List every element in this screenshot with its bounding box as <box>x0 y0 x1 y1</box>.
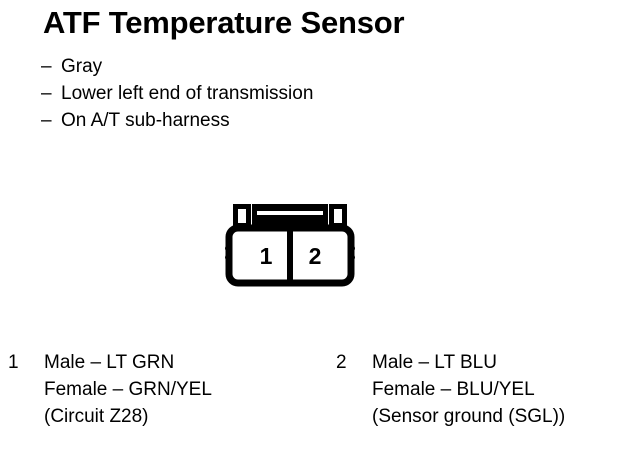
pin-male-wire-color: Male – LT BLU <box>372 349 565 376</box>
connector-cavity-label-1: 1 <box>260 243 273 269</box>
list-item-label: Lower left end of transmission <box>61 80 313 107</box>
pin-legend: 1 Male – LT GRN Female – GRN/YEL (Circui… <box>0 349 624 439</box>
pin-circuit-note: (Circuit Z28) <box>44 403 212 430</box>
list-item: – Lower left end of transmission <box>41 80 561 107</box>
pin-number: 1 <box>8 349 44 376</box>
dash-bullet-icon: – <box>41 80 61 107</box>
description-list: – Gray – Lower left end of transmission … <box>41 53 561 134</box>
dash-bullet-icon: – <box>41 107 61 134</box>
list-item-label: Gray <box>61 53 102 80</box>
connector-cavity-label-2: 2 <box>309 243 322 269</box>
dash-bullet-icon: – <box>41 53 61 80</box>
pin-circuit-note: (Sensor ground (SGL)) <box>372 403 565 430</box>
pin-female-wire-color: Female – BLU/YEL <box>372 376 565 403</box>
pin-male-wire-color: Male – LT GRN <box>44 349 212 376</box>
pin-female-wire-color: Female – GRN/YEL <box>44 376 212 403</box>
list-item: – Gray <box>41 53 561 80</box>
connector-spec-sheet: ATF Temperature Sensor – Gray – Lower le… <box>0 0 624 470</box>
list-item-label: On A/T sub-harness <box>61 107 230 134</box>
pin-number: 2 <box>336 349 372 376</box>
pin-legend-entry-1: 1 Male – LT GRN Female – GRN/YEL (Circui… <box>8 349 212 430</box>
list-item: – On A/T sub-harness <box>41 107 561 134</box>
page-title: ATF Temperature Sensor <box>43 4 404 42</box>
pin-legend-entry-2: 2 Male – LT BLU Female – BLU/YEL (Sensor… <box>336 349 565 430</box>
connector-diagram: 1 2 <box>205 188 375 308</box>
